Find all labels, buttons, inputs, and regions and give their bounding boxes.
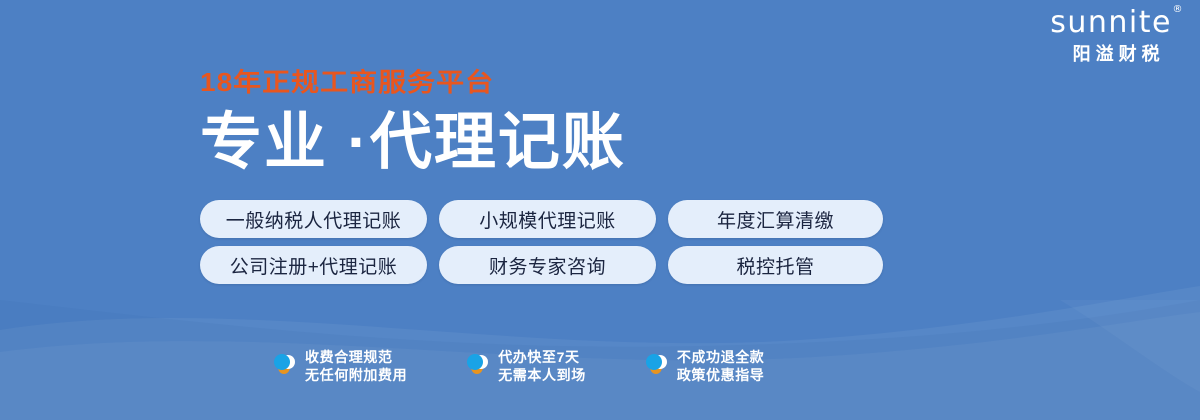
logo-wordmark-text: sunnite xyxy=(1050,5,1172,40)
feature-text: 代办快至7天 无需本人到场 xyxy=(498,350,586,382)
promo-banner: sunnite ® 阳溢财税 18年正规工商服务平台 专业 ·代理记账 一般纳税… xyxy=(0,0,1200,420)
logo-wordmark: sunnite ® xyxy=(1050,8,1182,38)
service-pill[interactable]: 年度汇算清缴 xyxy=(668,200,883,238)
circle-dot-icon xyxy=(644,351,668,381)
brand-logo[interactable]: sunnite ® 阳溢财税 xyxy=(1050,8,1182,63)
feature-line-2: 政策优惠指导 xyxy=(677,368,765,382)
hero-headline: 专业 ·代理记账 xyxy=(200,112,626,174)
registered-trademark-icon: ® xyxy=(1173,5,1185,15)
hero-eyebrow: 18年正规工商服务平台 xyxy=(200,70,626,96)
service-pill[interactable]: 小规模代理记账 xyxy=(439,200,656,238)
feature-text: 不成功退全款 政策优惠指导 xyxy=(677,350,765,382)
feature-line-1: 不成功退全款 xyxy=(677,350,765,364)
hero-text-block: 18年正规工商服务平台 专业 ·代理记账 xyxy=(200,70,626,174)
feature-item: 收费合理规范 无任何附加费用 xyxy=(272,350,407,382)
feature-item: 代办快至7天 无需本人到场 xyxy=(465,350,586,382)
feature-text: 收费合理规范 无任何附加费用 xyxy=(305,350,407,382)
feature-line-1: 收费合理规范 xyxy=(305,350,407,364)
feature-line-2: 无任何附加费用 xyxy=(305,368,407,382)
logo-chinese-name: 阳溢财税 xyxy=(1050,45,1182,63)
service-pill[interactable]: 一般纳税人代理记账 xyxy=(200,200,427,238)
circle-dot-icon xyxy=(465,351,489,381)
service-pill[interactable]: 税控托管 xyxy=(668,246,883,284)
service-pill[interactable]: 财务专家咨询 xyxy=(439,246,656,284)
feature-list: 收费合理规范 无任何附加费用 代办快至7天 无需本人到场 不成功退全款 xyxy=(272,350,764,382)
service-pill-grid: 一般纳税人代理记账 小规模代理记账 年度汇算清缴 公司注册+代理记账 财务专家咨… xyxy=(200,200,883,284)
feature-line-1: 代办快至7天 xyxy=(498,350,586,364)
feature-line-2: 无需本人到场 xyxy=(498,368,586,382)
service-pill[interactable]: 公司注册+代理记账 xyxy=(200,246,427,284)
feature-item: 不成功退全款 政策优惠指导 xyxy=(644,350,765,382)
circle-dot-icon xyxy=(272,351,296,381)
